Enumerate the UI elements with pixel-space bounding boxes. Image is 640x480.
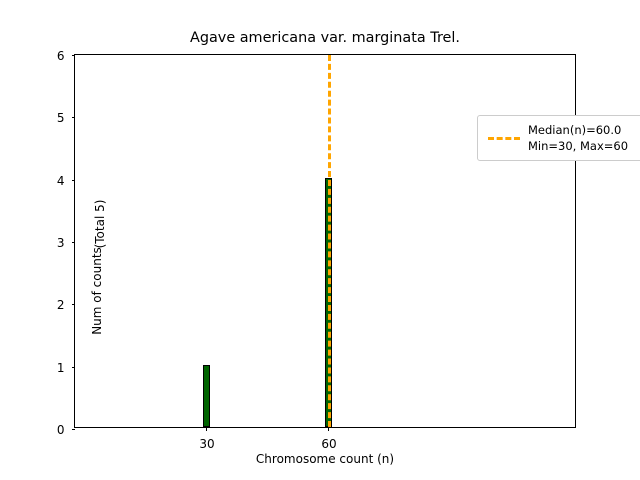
legend[interactable]: Median(n)=60.0 Min=30, Max=60 <box>477 115 640 161</box>
plot-area: 0 1 2 3 4 5 6 30 60 <box>74 54 576 428</box>
xtick-label-60: 60 <box>321 437 336 451</box>
x-axis-label: Chromosome count (n) <box>74 452 576 466</box>
legend-text: Median(n)=60.0 Min=30, Max=60 <box>528 122 636 154</box>
legend-minmax-label: Min=30, Max=60 <box>528 138 636 154</box>
xtick-mark-60: 60 <box>328 427 329 431</box>
ytick-label-4: 4 <box>57 174 65 188</box>
xtick-mark-30: 30 <box>206 427 207 431</box>
chart-title: Agave americana var. marginata Trel. <box>74 30 576 47</box>
ytick-label-3: 3 <box>57 236 65 250</box>
ytick-label-5: 5 <box>57 111 65 125</box>
legend-dashed-line-icon <box>488 137 520 140</box>
median-line <box>328 55 331 427</box>
ytick-label-1: 1 <box>57 361 65 375</box>
bar-n30 <box>203 365 210 427</box>
ytick-mark-0: 0 <box>72 429 76 430</box>
ytick-label-2: 2 <box>57 298 65 312</box>
y-axis-label-total: (Total 5) <box>93 154 107 294</box>
ytick-label-0: 0 <box>57 423 65 437</box>
ytick-label-6: 6 <box>57 49 65 63</box>
legend-median-label: Median(n)=60.0 <box>528 122 636 138</box>
figure-canvas: Agave americana var. marginata Trel. 0 1… <box>0 0 640 480</box>
plot-surface <box>75 55 575 427</box>
xtick-label-30: 30 <box>199 437 214 451</box>
